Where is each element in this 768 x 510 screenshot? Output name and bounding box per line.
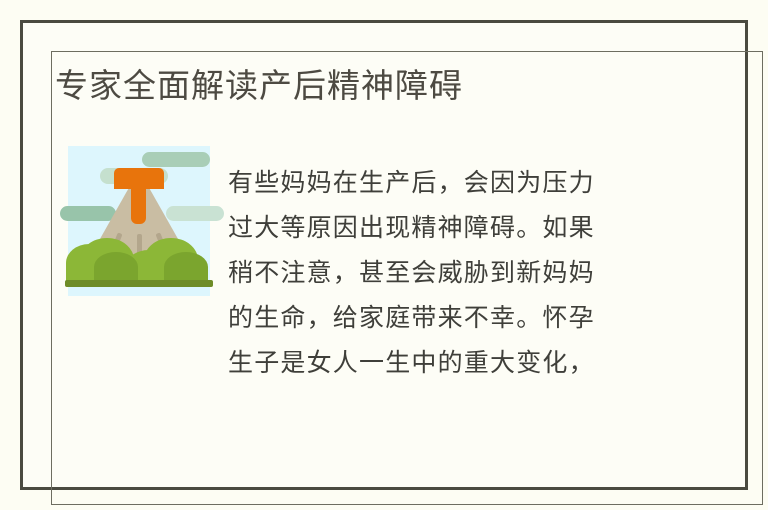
body-line: 稍不注意，甚至会威胁到新妈妈 (228, 250, 648, 295)
volcano-illustration (68, 146, 210, 296)
body-line: 有些妈妈在生产后，会因为压力 (228, 160, 648, 205)
page-title: 专家全面解读产后精神障碍 (55, 64, 463, 108)
lava-flow (131, 186, 146, 224)
body-line: 过大等原因出现精神障碍。如果 (228, 205, 648, 250)
body-line: 的生命，给家庭带来不幸。怀孕 (228, 295, 648, 340)
body-line: 生子是女人一生中的重大变化， (228, 340, 648, 385)
bush-shape (94, 252, 138, 282)
cloud-icon (60, 206, 116, 221)
article-body: 有些妈妈在生产后，会因为压力 过大等原因出现精神障碍。如果 稍不注意，甚至会威胁… (228, 160, 648, 385)
article-card: 专家全面解读产后精神障碍 有些妈妈在生产后，会因为压力 过大等原因出现精 (0, 0, 768, 510)
cloud-icon (166, 206, 224, 221)
bush-shape (164, 252, 208, 282)
ground-strip (65, 280, 213, 287)
cloud-icon (142, 152, 210, 167)
